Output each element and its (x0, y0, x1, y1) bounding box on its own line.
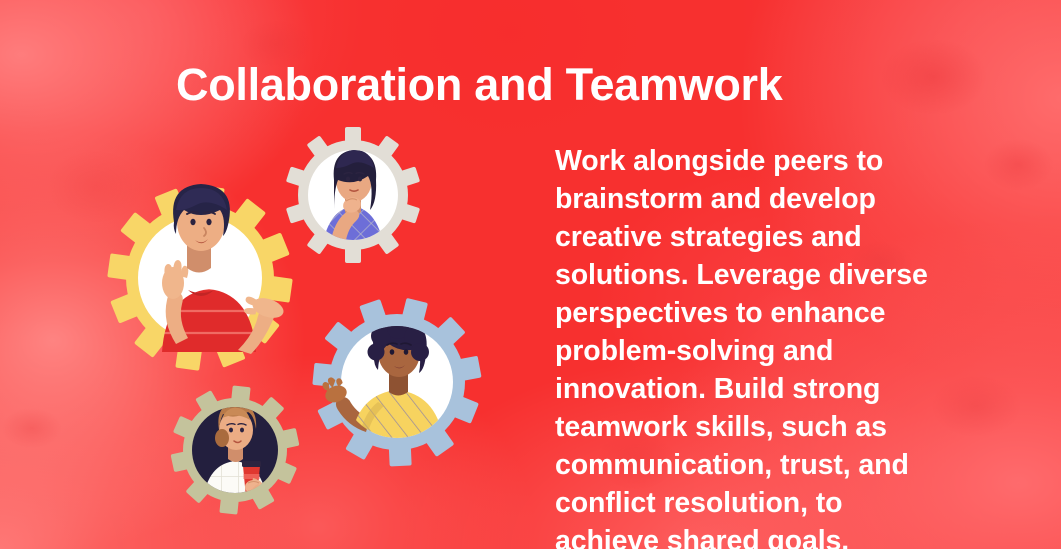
gear-woman-coffee (171, 385, 300, 514)
page-title: Collaboration and Teamwork (176, 60, 936, 110)
gear-woman-thinking (286, 127, 420, 263)
gear-person-yellow-stripes (312, 298, 481, 467)
slide-canvas: Collaboration and Teamwork Work alongsid… (0, 0, 1061, 549)
body-paragraph: Work alongside peers to brainstorm and d… (555, 142, 935, 549)
gear-man-red-shirt (107, 184, 293, 371)
